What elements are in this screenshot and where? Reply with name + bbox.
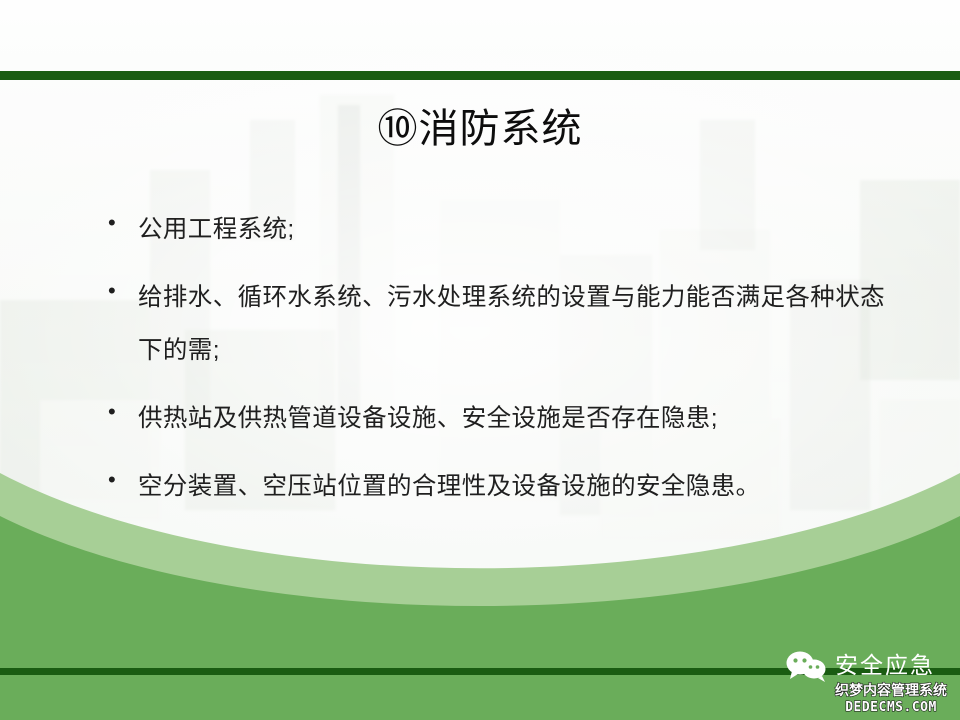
slide-canvas: ⑩消防系统 • 公用工程系统; • 给排水、循环水系统、污水处理系统的设置与能力…: [0, 0, 960, 720]
wechat-brand-block: 安全应急: [786, 650, 935, 682]
bullet-marker-icon: •: [108, 271, 138, 311]
list-item-text: 给排水、循环水系统、污水处理系统的设置与能力能否满足各种状态下的需;: [138, 271, 898, 377]
wechat-account-label: 安全应急: [835, 651, 935, 681]
dedecms-watermark: 织梦内容管理系统 DEDECMS.COM: [835, 684, 947, 714]
list-item-text: 公用工程系统;: [138, 203, 898, 256]
list-item-text: 空分装置、空压站位置的合理性及设备设施的安全隐患。: [138, 460, 898, 513]
list-item: • 供热站及供热管道设备设施、安全设施是否存在隐患;: [108, 392, 898, 445]
bullet-marker-icon: •: [108, 203, 138, 243]
bullet-list: • 公用工程系统; • 给排水、循环水系统、污水处理系统的设置与能力能否满足各种…: [108, 203, 898, 528]
list-item: • 公用工程系统;: [108, 203, 898, 256]
bullet-marker-icon: •: [108, 392, 138, 432]
wechat-icon: [786, 650, 828, 682]
bullet-marker-icon: •: [108, 460, 138, 500]
list-item-text: 供热站及供热管道设备设施、安全设施是否存在隐患;: [138, 392, 898, 445]
watermark-en-text: DEDECMS.COM: [835, 701, 947, 714]
list-item: • 给排水、循环水系统、污水处理系统的设置与能力能否满足各种状态下的需;: [108, 271, 898, 377]
top-divider-rule: [0, 71, 960, 80]
list-item: • 空分装置、空压站位置的合理性及设备设施的安全隐患。: [108, 460, 898, 513]
watermark-cn-text: 织梦内容管理系统: [835, 684, 947, 698]
page-title: ⑩消防系统: [0, 103, 960, 155]
